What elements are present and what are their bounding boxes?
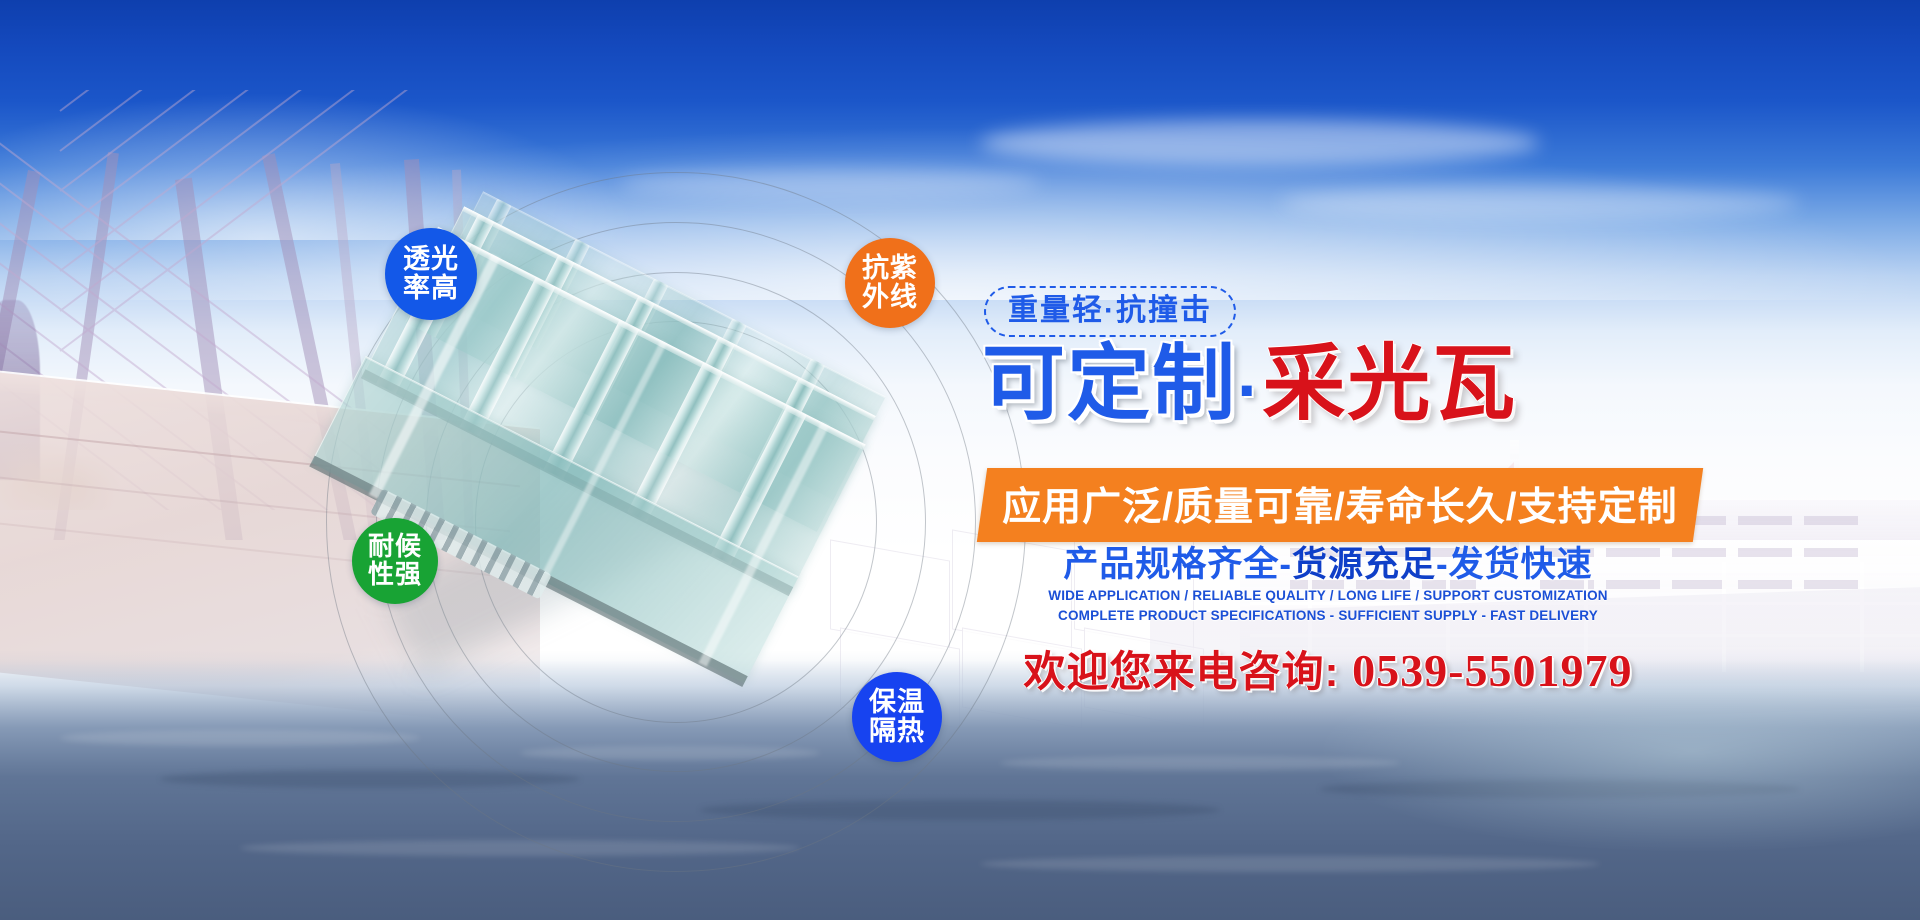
- sub-tagline-dash1: -: [1279, 545, 1292, 584]
- sub-tagline-dash2: -: [1436, 545, 1449, 584]
- cloud-streak-2: [1280, 186, 1800, 220]
- headline-blue-text: 可定制: [982, 337, 1237, 430]
- badge-thermal-insulation-line2: 隔热: [869, 717, 925, 746]
- badge-uv-resistant-line1: 抗紫: [862, 254, 918, 283]
- sub-tagline: 产品规格齐全-货源充足-发货快速: [968, 536, 1688, 587]
- orange-feature-bar: 应用广泛/质量可靠/寿命长久/支持定制: [977, 468, 1703, 542]
- headline-separator: ·: [1237, 351, 1262, 429]
- sub-tagline-part2: 发货快速: [1449, 545, 1593, 584]
- badge-light-transmission[interactable]: 透光 率高: [385, 228, 477, 320]
- badge-weather-resistant[interactable]: 耐候 性强: [352, 518, 438, 604]
- english-tagline-line2: COMPLETE PRODUCT SPECIFICATIONS - SUFFIC…: [968, 608, 1688, 623]
- cloud-streak-1: [980, 120, 1540, 166]
- headline-red-text: 采光瓦: [1262, 337, 1517, 430]
- contact-line: 欢迎您来电咨询: 0539-5501979: [968, 638, 1688, 699]
- advertising-banner: 透光 率高 抗紫 外线 耐候 性强 保温 隔热 重量轻·抗撞击 可定制·采光瓦 …: [0, 0, 1920, 920]
- badge-uv-resistant-line2: 外线: [862, 283, 918, 312]
- badge-weather-resistant-line2: 性强: [368, 561, 422, 589]
- tagline-pill: 重量轻·抗撞击: [984, 286, 1236, 337]
- marketing-text-block: 重量轻·抗撞击 可定制·采光瓦 应用广泛/质量可靠/寿命长久/支持定制 产品规格…: [968, 286, 1688, 746]
- badge-thermal-insulation[interactable]: 保温 隔热: [852, 672, 942, 762]
- badge-light-transmission-line2: 率高: [403, 274, 459, 303]
- badge-uv-resistant[interactable]: 抗紫 外线: [845, 238, 935, 328]
- english-tagline-line1: WIDE APPLICATION / RELIABLE QUALITY / LO…: [968, 588, 1688, 603]
- badge-light-transmission-line1: 透光: [403, 245, 459, 274]
- headline: 可定制·采光瓦: [982, 342, 1517, 425]
- sub-tagline-part1: 产品规格齐全: [1063, 545, 1279, 584]
- sub-tagline-bold: 货源充足: [1292, 545, 1436, 584]
- orange-feature-bar-text: 应用广泛/质量可靠/寿命长久/支持定制: [1002, 476, 1678, 532]
- contact-phone-number[interactable]: 0539-5501979: [1352, 645, 1632, 696]
- contact-prompt: 欢迎您来电咨询:: [1024, 648, 1340, 695]
- badge-weather-resistant-line1: 耐候: [368, 533, 422, 561]
- badge-thermal-insulation-line1: 保温: [869, 688, 925, 717]
